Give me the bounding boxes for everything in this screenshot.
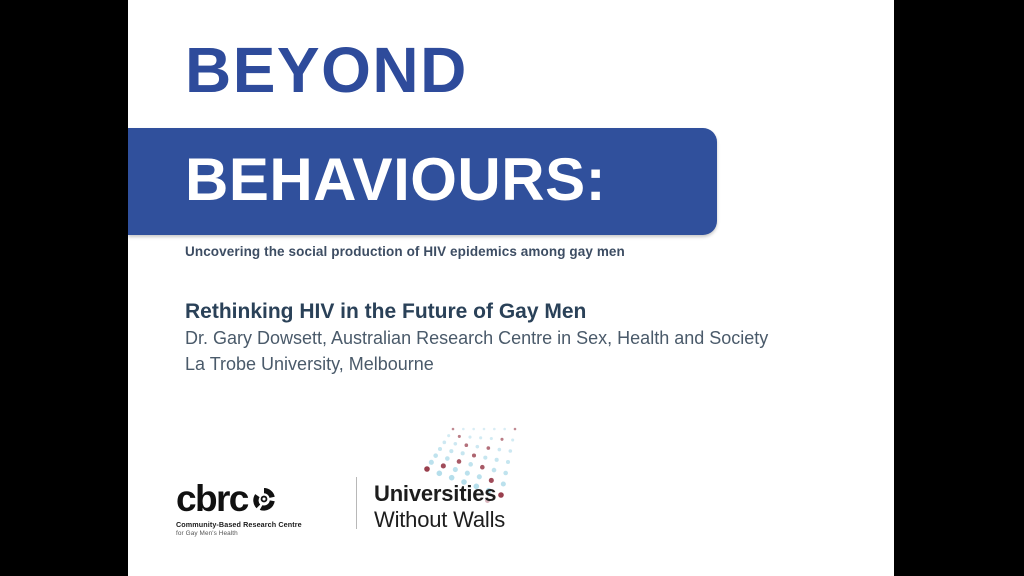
cbrc-logo: cbrc Community-Based Res <box>176 480 346 538</box>
uww-line-2: Without Walls <box>374 507 505 533</box>
title-word-behaviours: BEHAVIOURS: <box>185 145 606 215</box>
cbrc-wordmark: cbrc <box>176 480 248 517</box>
title-word-beyond: BEYOND <box>185 36 468 104</box>
cbrc-tagline-primary: Community-Based Research Centre <box>176 520 346 529</box>
logo-divider <box>356 477 357 529</box>
talk-title: Rethinking HIV in the Future of Gay Men <box>185 298 875 325</box>
slide-text-block: Rethinking HIV in the Future of Gay Men … <box>185 298 875 377</box>
universities-without-walls-logo: Universities Without Walls <box>374 481 505 533</box>
presentation-slide: BEYOND BEHAVIOURS: Uncovering the social… <box>128 0 894 576</box>
slide-subtitle: Uncovering the social production of HIV … <box>185 244 625 259</box>
presenter-affiliation-line-1: Dr. Gary Dowsett, Australian Research Ce… <box>185 325 875 351</box>
cbrc-tagline-secondary: for Gay Men's Health <box>176 529 346 538</box>
title-banner: BEHAVIOURS: <box>128 128 717 235</box>
logo-row: cbrc Community-Based Res <box>128 425 894 555</box>
cbrc-wordmark-row: cbrc <box>176 480 346 517</box>
video-letterbox-stage: BEYOND BEHAVIOURS: Uncovering the social… <box>0 0 1024 576</box>
presenter-affiliation-line-2: La Trobe University, Melbourne <box>185 351 875 377</box>
uww-line-1: Universities <box>374 481 505 507</box>
cbrc-swirl-icon <box>251 486 277 512</box>
